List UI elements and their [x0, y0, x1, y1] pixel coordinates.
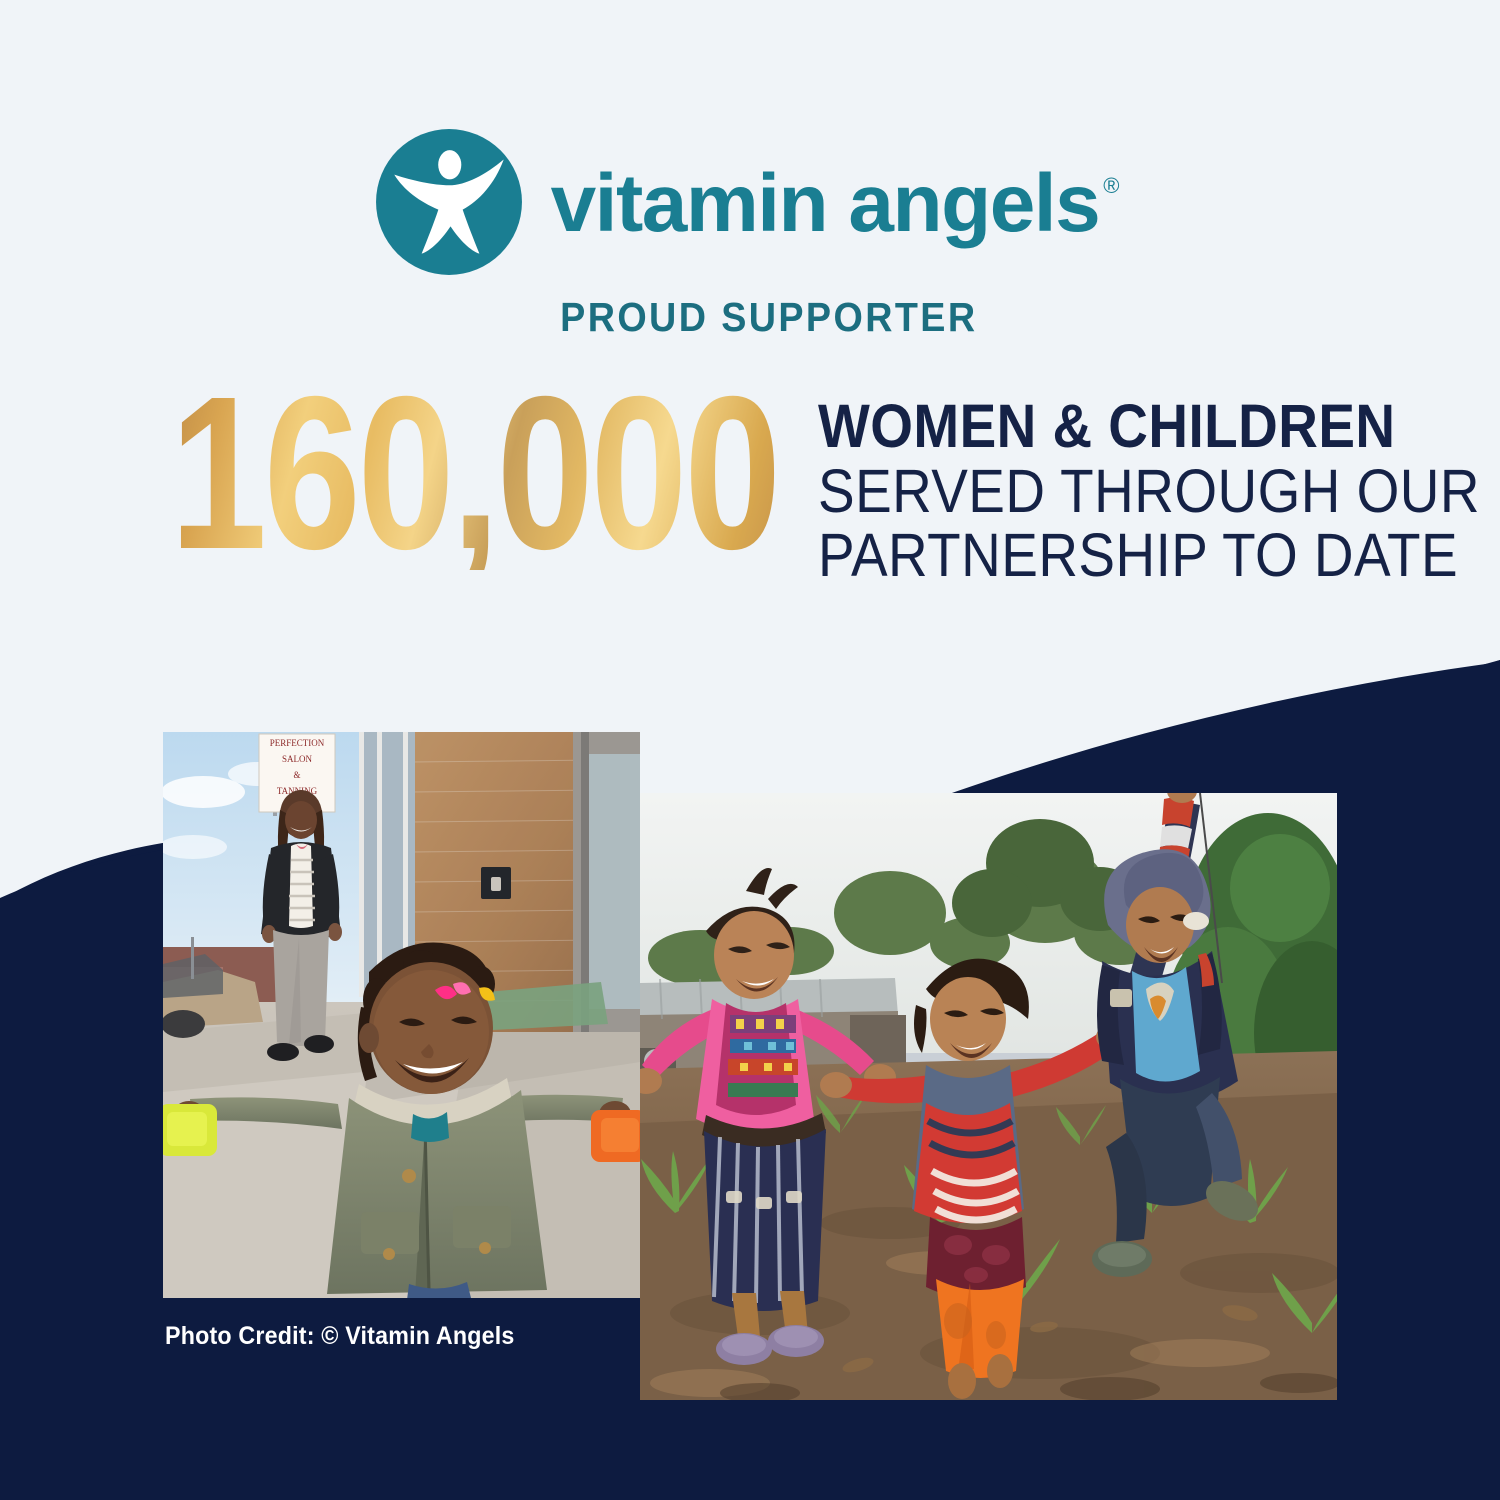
headline-line-3: PARTNERSHIP TO DATE	[818, 523, 1480, 588]
vitamin-angels-angel-icon	[373, 126, 525, 278]
headline-text-block: WOMEN & CHILDREN SERVED THROUGH OUR PART…	[818, 394, 1480, 588]
impact-number: 160,000	[170, 378, 778, 570]
svg-text:PERFECTION: PERFECTION	[270, 738, 325, 748]
logo-row: vitamin angels ®	[373, 126, 1120, 278]
headline-line-2: SERVED THROUGH OUR	[818, 459, 1480, 524]
proud-supporter-tagline: PROUD SUPPORTER	[560, 294, 977, 341]
svg-text:&: &	[293, 770, 300, 780]
registered-trademark-icon: ®	[1103, 173, 1119, 199]
brand-wordmark: vitamin angels	[551, 167, 1100, 241]
svg-text:SALON: SALON	[282, 754, 313, 764]
headline-line-1: WOMEN & CHILDREN	[818, 394, 1480, 459]
poster-canvas: vitamin angels ® PROUD SUPPORTER 160,000…	[0, 0, 1500, 1500]
wordmark-wrap: vitamin angels ®	[551, 167, 1120, 241]
logo-lockup: vitamin angels ® PROUD SUPPORTER	[0, 126, 1500, 341]
wordmark-block: vitamin angels ®	[551, 163, 1120, 241]
photo-street: PERFECTION SALON & TANNING SPA	[163, 732, 640, 1298]
headline-block: 160,000 WOMEN & CHILDREN SERVED THROUGH …	[170, 378, 1370, 588]
photo-credit-label: Photo Credit: © Vitamin Angels	[165, 1322, 515, 1351]
photo-field	[640, 793, 1337, 1400]
